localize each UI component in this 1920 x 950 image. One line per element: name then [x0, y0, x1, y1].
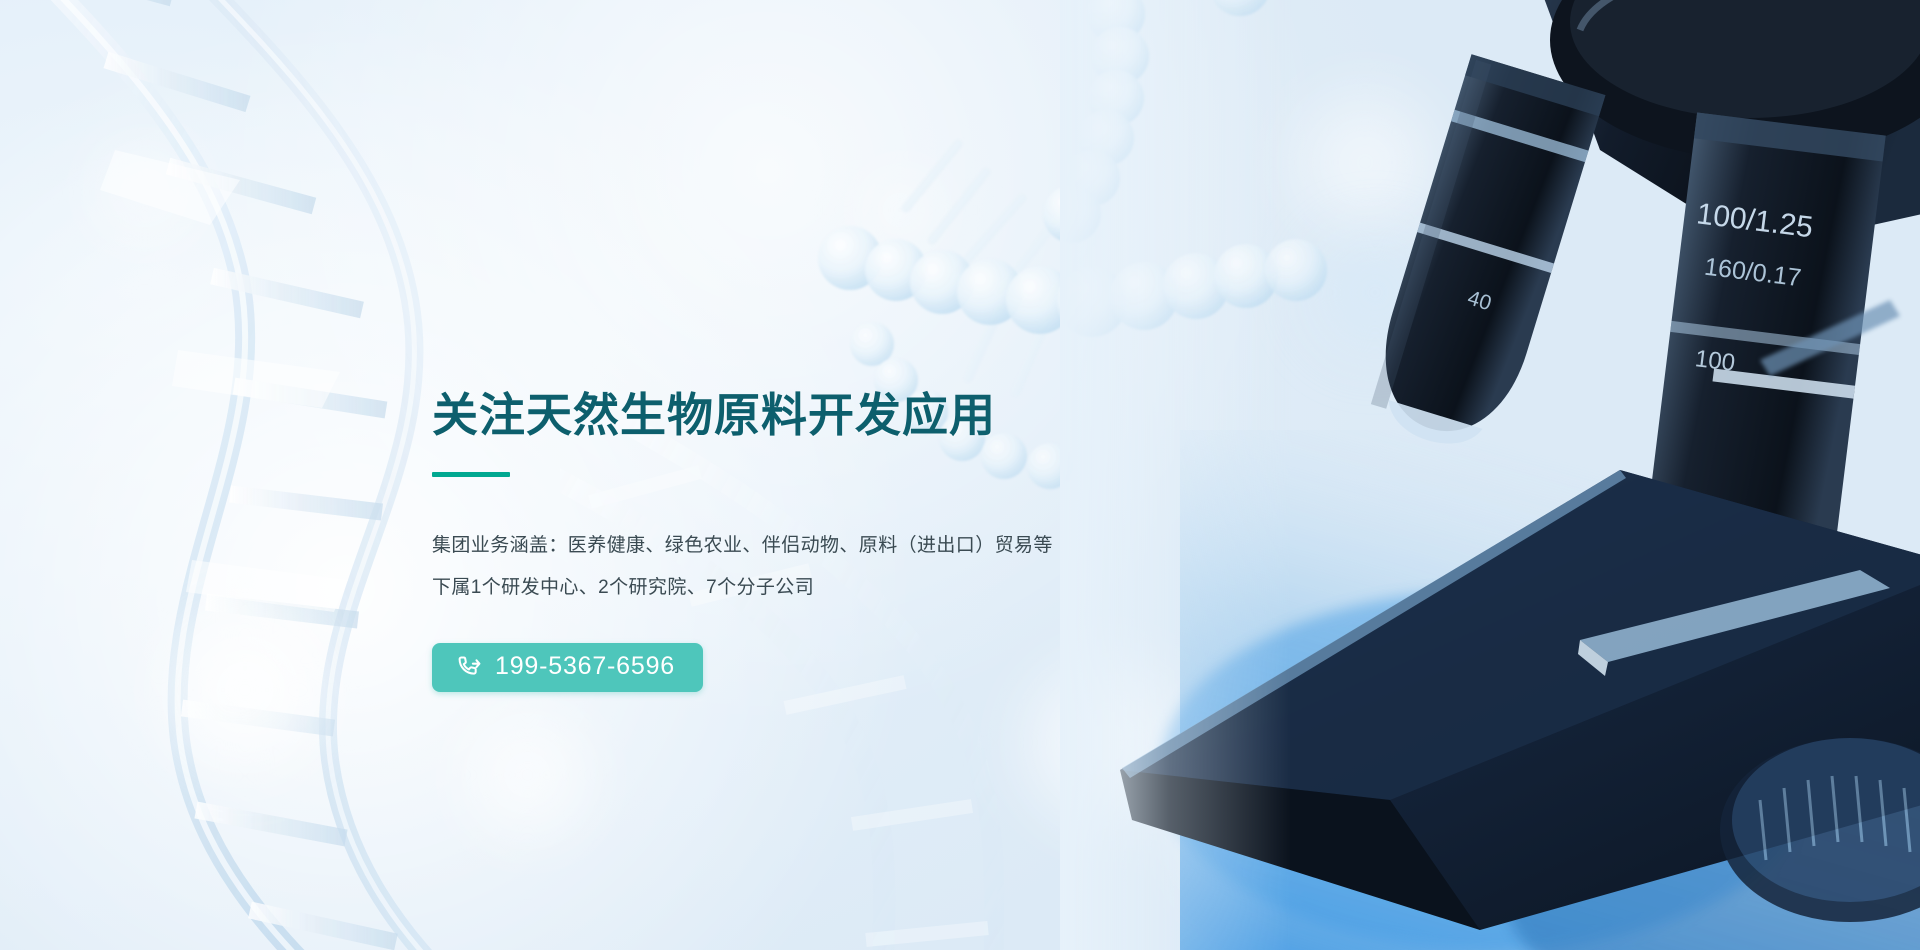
svg-text:100: 100	[1694, 345, 1737, 377]
hero-description-line-1: 集团业务涵盖：医养健康、绿色农业、伴侣动物、原料（进出口）贸易等	[432, 525, 1252, 567]
phone-number: 199-5367-6596	[495, 654, 675, 681]
outgoing-call-icon	[456, 654, 483, 681]
hero-banner: 40 100/1.25 160/0.17 100	[0, 0, 1920, 950]
hero-description-line-2: 下属1个研发中心、2个研究院、7个分子公司	[432, 567, 1252, 609]
page-title: 关注天然生物原料开发应用	[432, 390, 1252, 442]
hero-content: 关注天然生物原料开发应用 集团业务涵盖：医养健康、绿色农业、伴侣动物、原料（进出…	[432, 390, 1252, 692]
phone-cta-button[interactable]: 199-5367-6596	[432, 643, 703, 692]
hero-description: 集团业务涵盖：医养健康、绿色农业、伴侣动物、原料（进出口）贸易等 下属1个研发中…	[432, 477, 1252, 609]
